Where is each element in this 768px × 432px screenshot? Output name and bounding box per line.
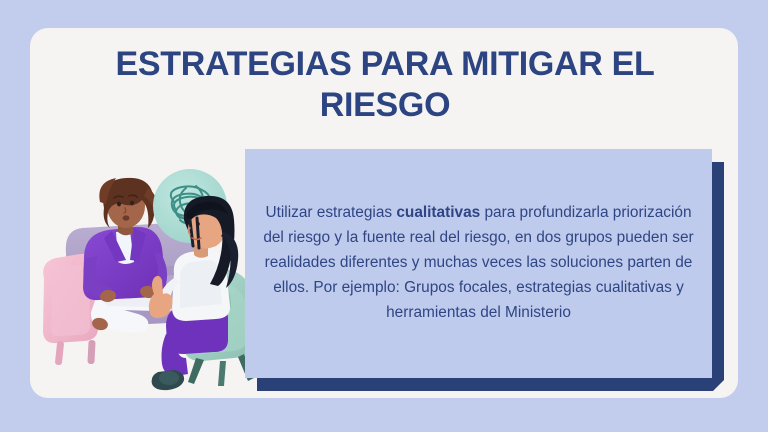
paragraph-part-two: para profundizarla priorización del ries… [263, 204, 693, 321]
paragraph-part-one: Utilizar estrategias [265, 204, 396, 221]
slide-card: ESTRATEGIAS PARA MITIGAR EL RIESGO [30, 28, 738, 398]
body-paragraph: Utilizar estrategias cualitativas para p… [263, 201, 694, 326]
page-title: ESTRATEGIAS PARA MITIGAR EL RIESGO [90, 44, 680, 127]
counseling-session-illustration [38, 158, 268, 398]
text-box: Utilizar estrategias cualitativas para p… [245, 149, 712, 378]
emphasis-word: cualitativas [396, 204, 480, 221]
text-callout-box: Utilizar estrategias cualitativas para p… [245, 149, 730, 391]
